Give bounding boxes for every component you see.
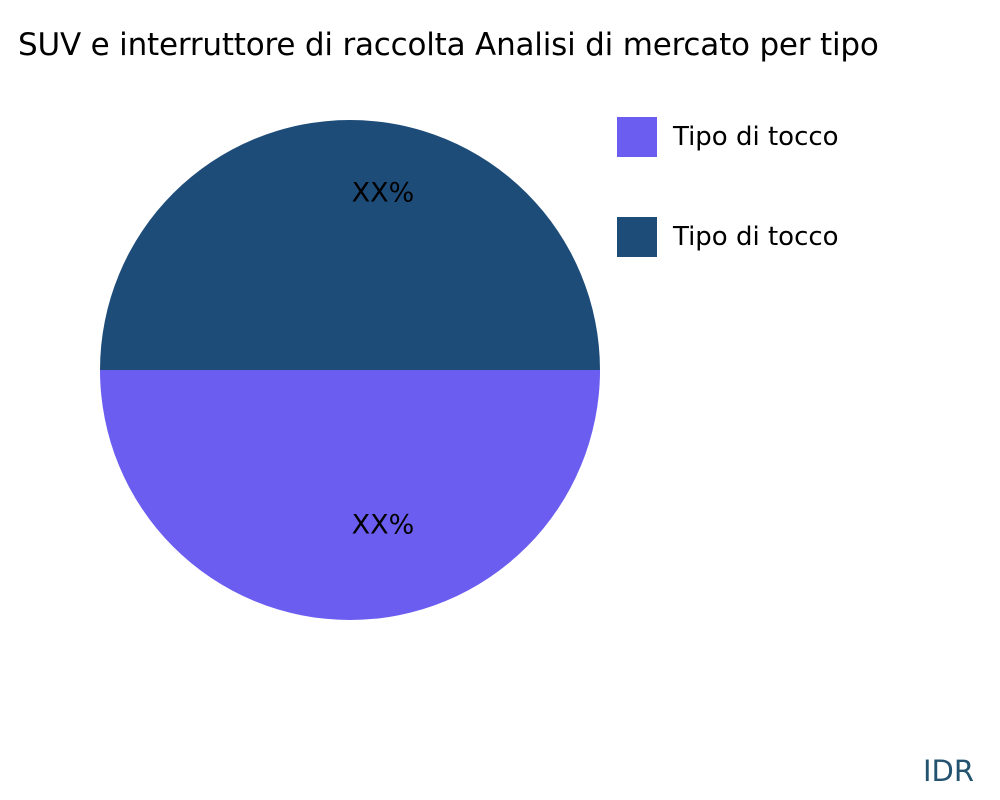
watermark-label: IDR — [923, 755, 974, 787]
legend-color-swatch-0 — [617, 117, 657, 157]
pie-chart-svg — [100, 120, 600, 621]
legend-color-swatch-1 — [617, 217, 657, 257]
pie-slice-0[interactable] — [100, 370, 600, 620]
chart-canvas: SUV e interruttore di raccolta Analisi d… — [0, 0, 1000, 800]
legend-item-label-1: Tipo di tocco — [673, 217, 839, 257]
page-title: SUV e interruttore di raccolta Analisi d… — [18, 22, 1000, 68]
pie-slice-label-0: XX% — [352, 512, 415, 539]
pie-slice-1[interactable] — [100, 120, 600, 370]
legend-item-label-0: Tipo di tocco — [673, 117, 839, 157]
pie-chart — [100, 120, 600, 621]
pie-slice-label-1: XX% — [352, 180, 415, 207]
